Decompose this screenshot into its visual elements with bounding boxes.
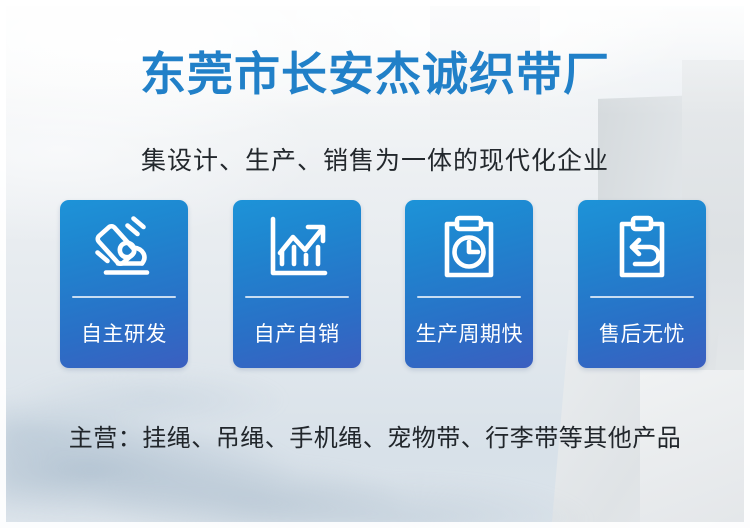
feature-card-label: 自产自销 — [254, 298, 340, 368]
clipboard-return-icon — [578, 200, 706, 296]
growth-chart-icon — [233, 200, 361, 296]
feature-card-label: 生产周期快 — [416, 298, 524, 368]
microscope-icon — [60, 200, 188, 296]
feature-card-self-production[interactable]: 自产自销 — [233, 200, 361, 368]
product-list-line: 主营：挂绳、吊绳、手机绳、宠物带、行李带等其他产品 — [0, 418, 750, 453]
feature-card-list: 自主研发 自产自销 — [60, 200, 706, 368]
feature-card-after-sales[interactable]: 售后无忧 — [578, 200, 706, 368]
page-subtitle: 集设计、生产、销售为一体的现代化企业 — [0, 141, 750, 177]
clipboard-clock-icon — [405, 200, 533, 296]
promo-banner: 东莞市长安杰诚织带厂 集设计、生产、销售为一体的现代化企业 — [0, 0, 750, 528]
page-title: 东莞市长安杰诚织带厂 — [0, 48, 750, 101]
feature-card-label: 售后无忧 — [599, 298, 685, 368]
feature-card-rnd[interactable]: 自主研发 — [60, 200, 188, 368]
feature-card-label: 自主研发 — [81, 298, 167, 368]
feature-card-fast-cycle[interactable]: 生产周期快 — [405, 200, 533, 368]
